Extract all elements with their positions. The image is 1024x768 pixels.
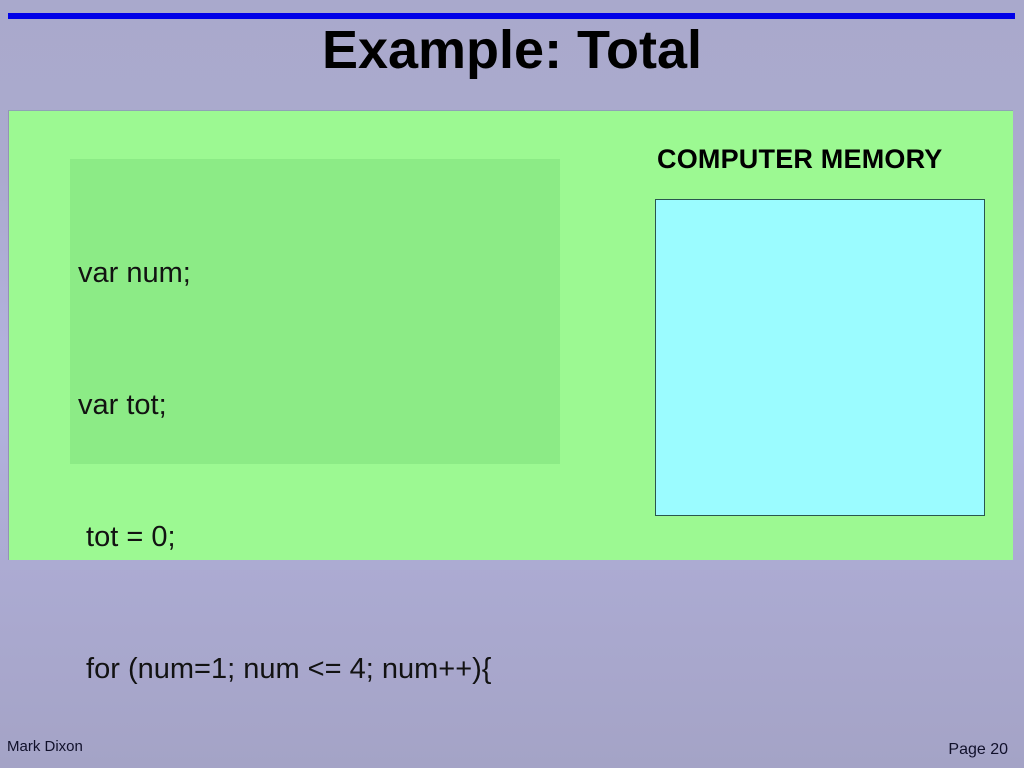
footer-author: Mark Dixon [7,738,83,755]
page-title: Example: Total [0,16,1024,84]
code-line: var num; [78,251,491,295]
footer-page-number: Page 20 [948,741,1008,759]
code-text: var num; var tot; tot = 0; for (num=1; n… [78,163,491,768]
code-block: var num; var tot; tot = 0; for (num=1; n… [70,159,560,464]
code-line: tot = 0; [78,515,491,559]
slide: Example: Total var num; var tot; tot = 0… [0,0,1024,768]
content-panel: var num; var tot; tot = 0; for (num=1; n… [8,110,1013,560]
code-line: var tot; [78,383,491,427]
code-line: for (num=1; num <= 4; num++){ [78,647,491,691]
computer-memory-box [655,199,985,516]
computer-memory-label: COMPUTER MEMORY [657,144,943,175]
